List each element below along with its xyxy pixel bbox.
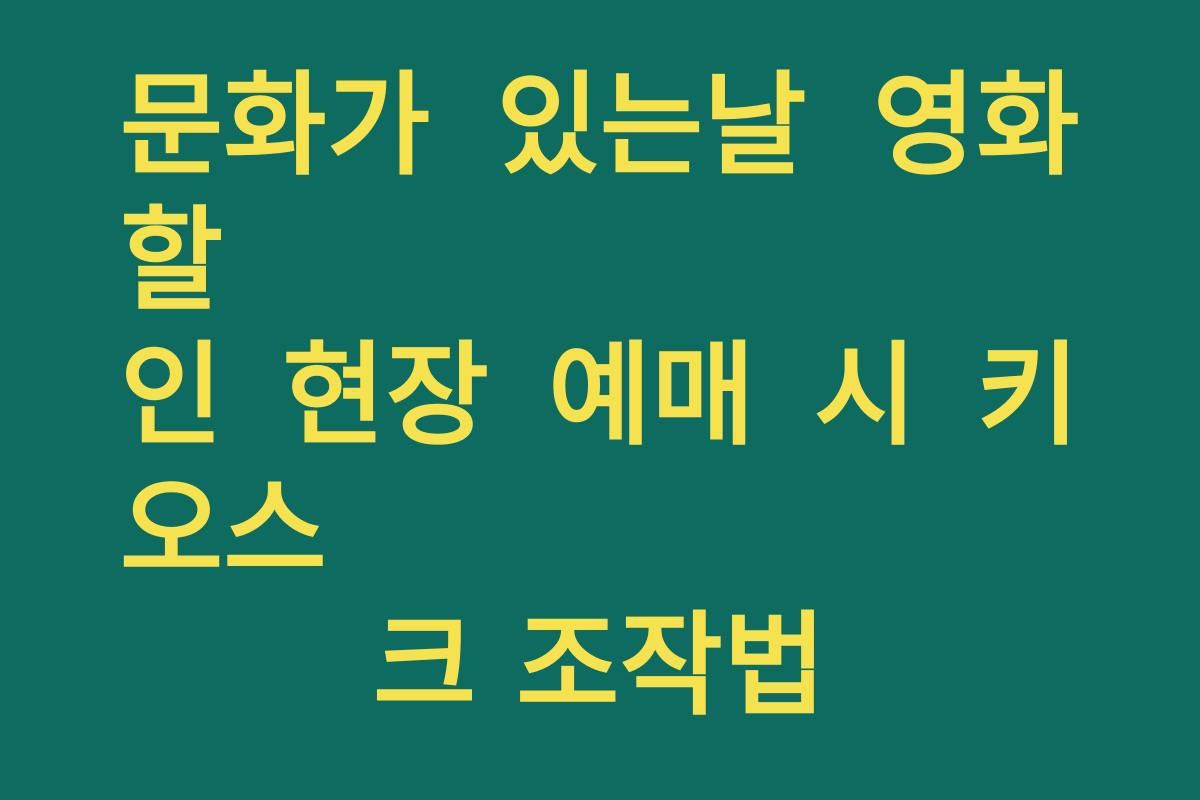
headline-line-3: 크 조작법: [120, 599, 1080, 734]
headline-line-1: 문화가 있는날 영화 할: [120, 59, 1080, 329]
headline-block: 문화가 있는날 영화 할 인 현장 예매 시 키오스 크 조작법: [120, 59, 1080, 734]
headline-line-2: 인 현장 예매 시 키오스: [120, 329, 1080, 599]
banner-canvas: 문화가 있는날 영화 할 인 현장 예매 시 키오스 크 조작법: [0, 0, 1200, 800]
